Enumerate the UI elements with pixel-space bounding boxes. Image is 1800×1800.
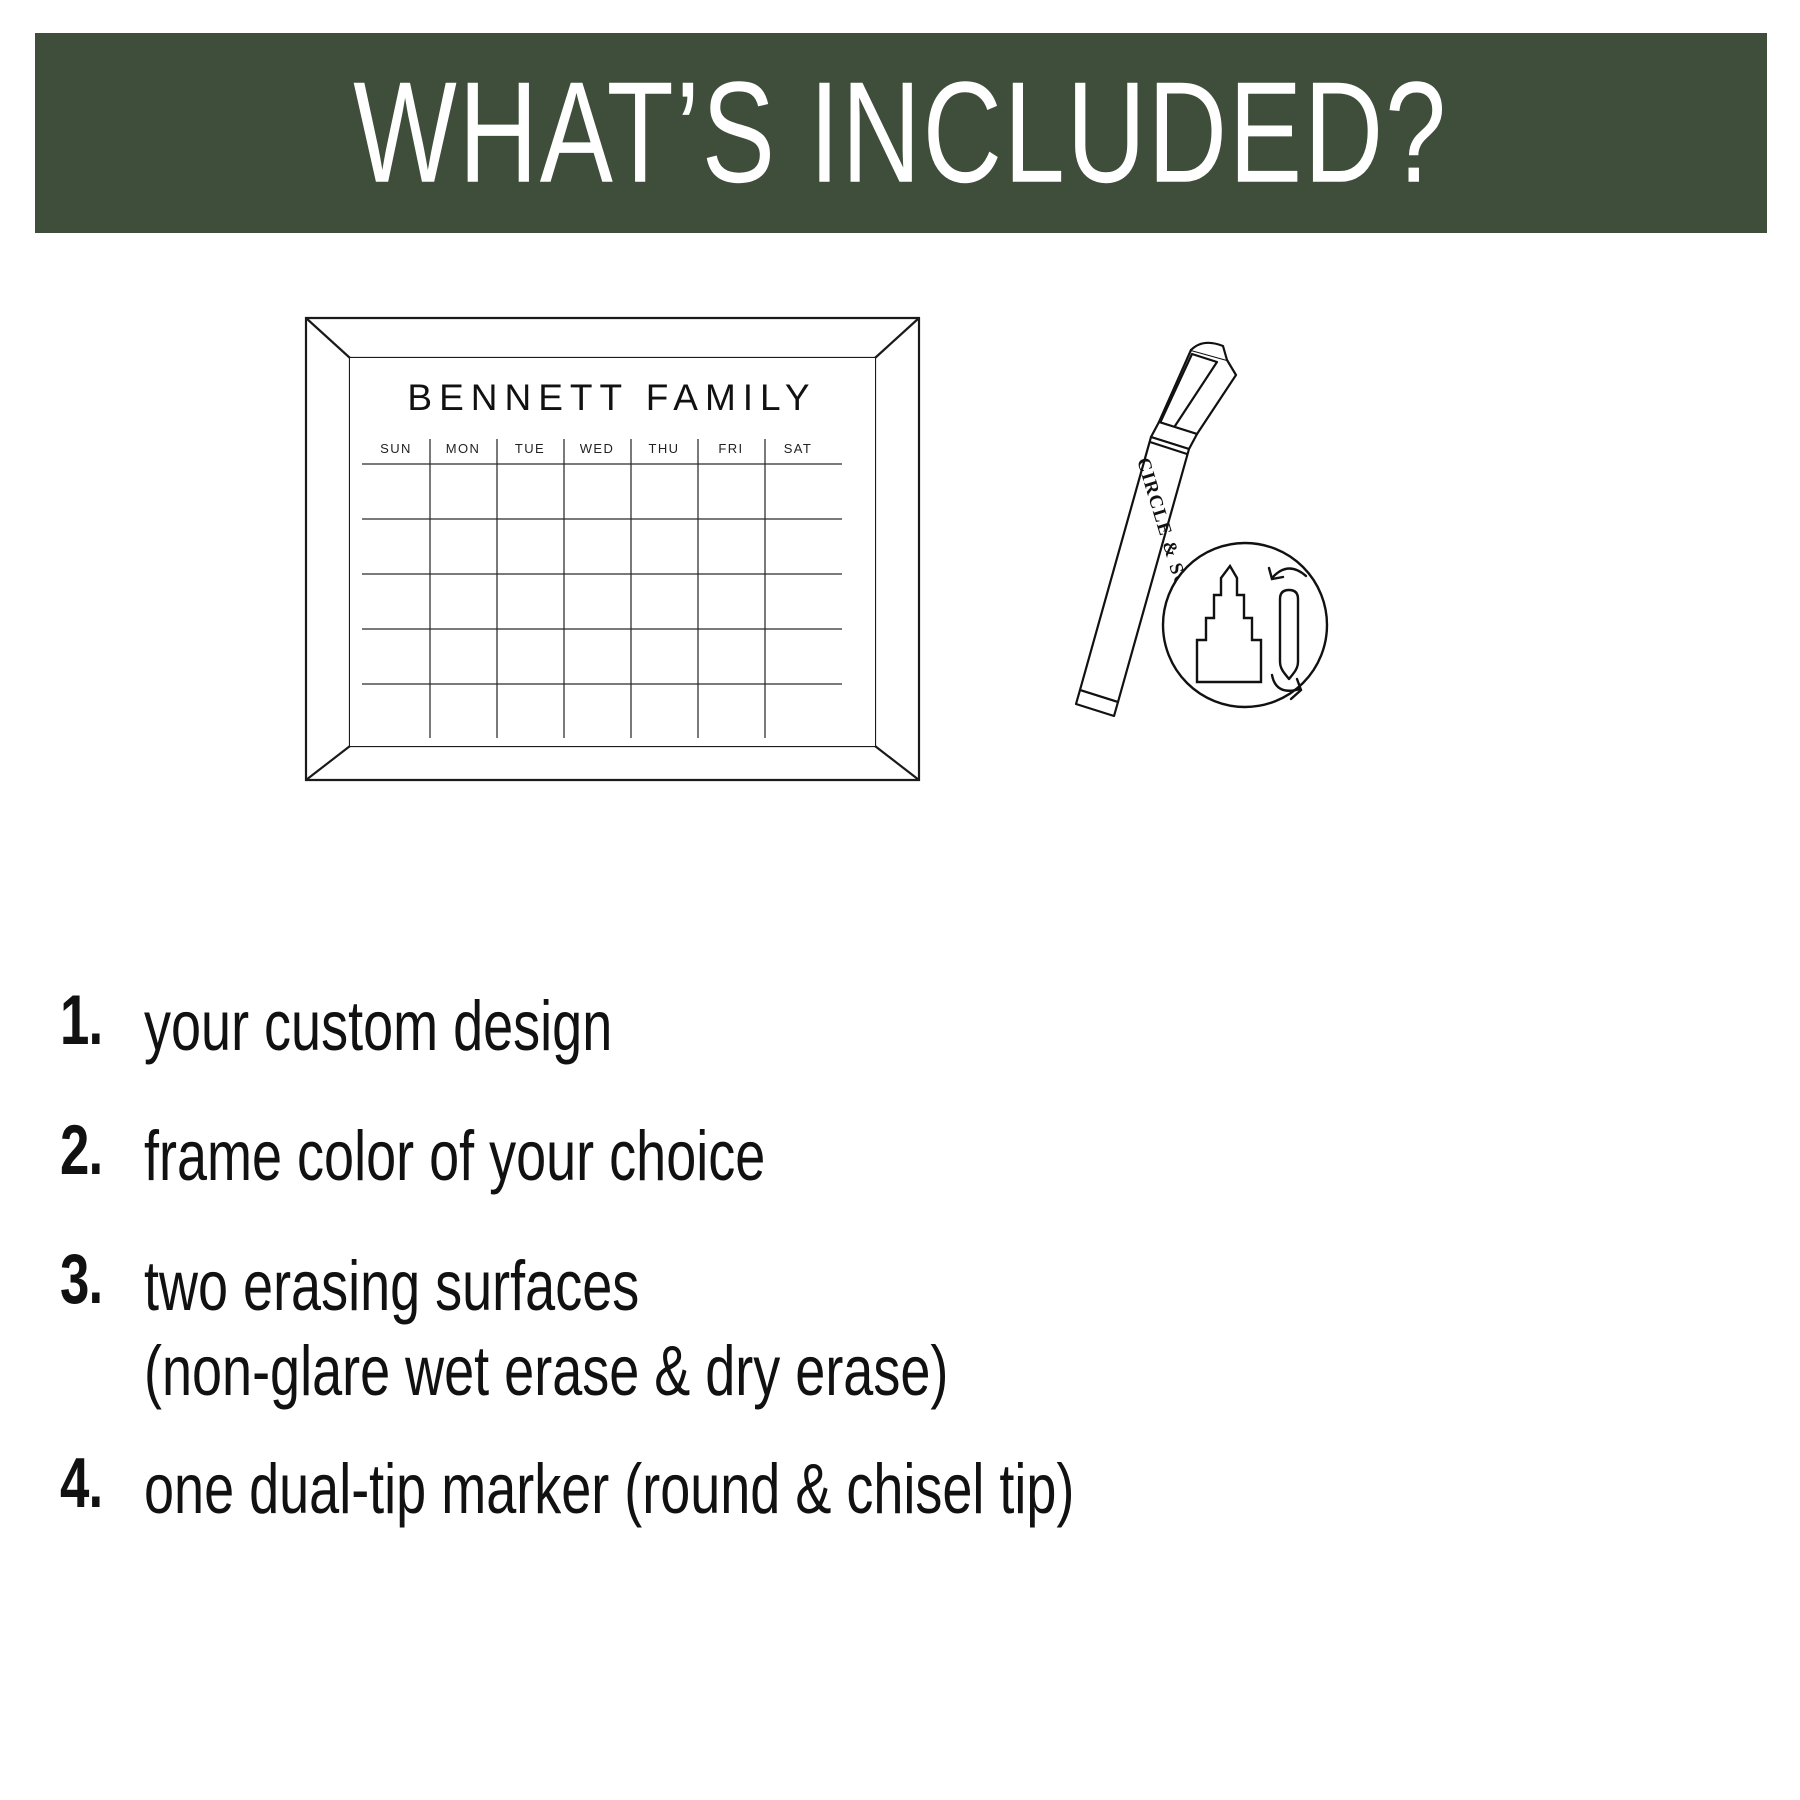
weekday-label-sun: SUN <box>380 441 412 456</box>
list-item-number: 1. <box>60 985 134 1056</box>
list-item: 3. two erasing surfaces (non-glare wet e… <box>60 1244 1760 1388</box>
marker-svg: CIRCLE & SQUARE <box>1040 330 1340 750</box>
list-item-text: one dual-tip marker (round & chisel tip) <box>144 1448 1074 1530</box>
header-banner: WHAT’S INCLUDED? <box>35 33 1767 233</box>
list-item: 2. frame color of your choice <box>60 1115 1760 1185</box>
weekday-label-wed: WED <box>580 441 615 456</box>
marker-illustration: CIRCLE & SQUARE <box>1040 330 1340 750</box>
list-item: 4. one dual-tip marker (round & chisel t… <box>60 1448 1760 1518</box>
calendar-board-title: BENNETT FAMILY <box>407 377 816 418</box>
page-title: WHAT’S INCLUDED? <box>354 61 1449 205</box>
list-item-number: 2. <box>60 1115 134 1186</box>
list-item-text: frame color of your choice <box>144 1115 765 1197</box>
included-items-list: 1. your custom design 2. frame color of … <box>60 985 1760 1578</box>
weekday-label-sat: SAT <box>784 441 813 456</box>
weekday-label-fri: FRI <box>718 441 743 456</box>
weekday-label-thu: THU <box>649 441 680 456</box>
product-illustration-row: BENNETT FAMILY SUN MON TUE WED THU FRI S… <box>0 290 1800 820</box>
list-item-number: 3. <box>60 1244 134 1315</box>
weekday-label-tue: TUE <box>515 441 545 456</box>
weekday-label-mon: MON <box>446 441 481 456</box>
marker-tips-badge <box>1163 543 1327 707</box>
product-info-graphic: WHAT’S INCLUDED? <box>0 0 1800 1800</box>
calendar-board-illustration: BENNETT FAMILY SUN MON TUE WED THU FRI S… <box>300 306 925 792</box>
list-item-text: two erasing surfaces (non-glare wet eras… <box>144 1244 948 1414</box>
calendar-board-svg: BENNETT FAMILY SUN MON TUE WED THU FRI S… <box>300 306 925 792</box>
list-item: 1. your custom design <box>60 985 1760 1055</box>
list-item-text: your custom design <box>144 985 612 1067</box>
round-tip-icon <box>1280 590 1298 679</box>
list-item-number: 4. <box>60 1448 134 1519</box>
